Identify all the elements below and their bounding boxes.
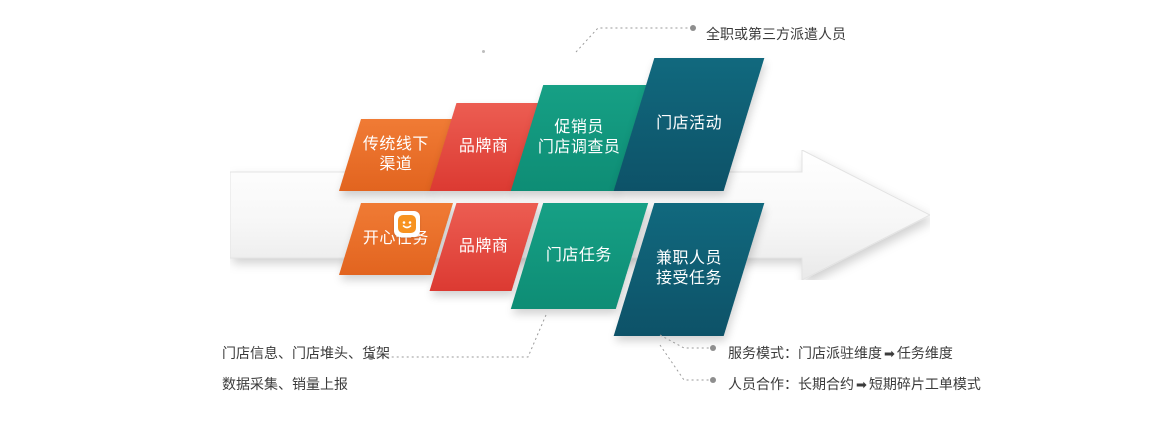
callout-top-right: 全职或第三方派遣人员 — [706, 21, 846, 47]
service-mode-prefix: 服务模式：门店派驻维度 — [728, 345, 882, 361]
service-mode-suffix: 任务维度 — [897, 345, 953, 361]
diagram-canvas: 传统线下 渠道 品牌商 促销员 门店调查员 门店活动 开心任务 品牌商 门店任务… — [0, 0, 1150, 430]
leader-lines — [0, 0, 1150, 430]
leader-dot-top — [690, 25, 696, 31]
callout-bottom-left-line-2: 数据采集、销量上报 — [222, 371, 348, 397]
callout-bottom-left-line-1: 门店信息、门店堆头、货架 — [222, 340, 390, 366]
cooperation-suffix: 短期碎片工单模式 — [869, 376, 981, 392]
leader-dot-bottom-right-2 — [710, 377, 716, 383]
callout-bottom-right-line-1: 服务模式：门店派驻维度➡任务维度 — [728, 340, 953, 367]
cooperation-prefix: 人员合作：长期合约 — [728, 376, 854, 392]
cooperation-arrow-icon: ➡ — [854, 377, 869, 392]
leader-dot-bottom-right-1 — [710, 345, 716, 351]
callout-bottom-right-line-2: 人员合作：长期合约➡短期碎片工单模式 — [728, 371, 981, 398]
service-mode-arrow-icon: ➡ — [882, 346, 897, 361]
